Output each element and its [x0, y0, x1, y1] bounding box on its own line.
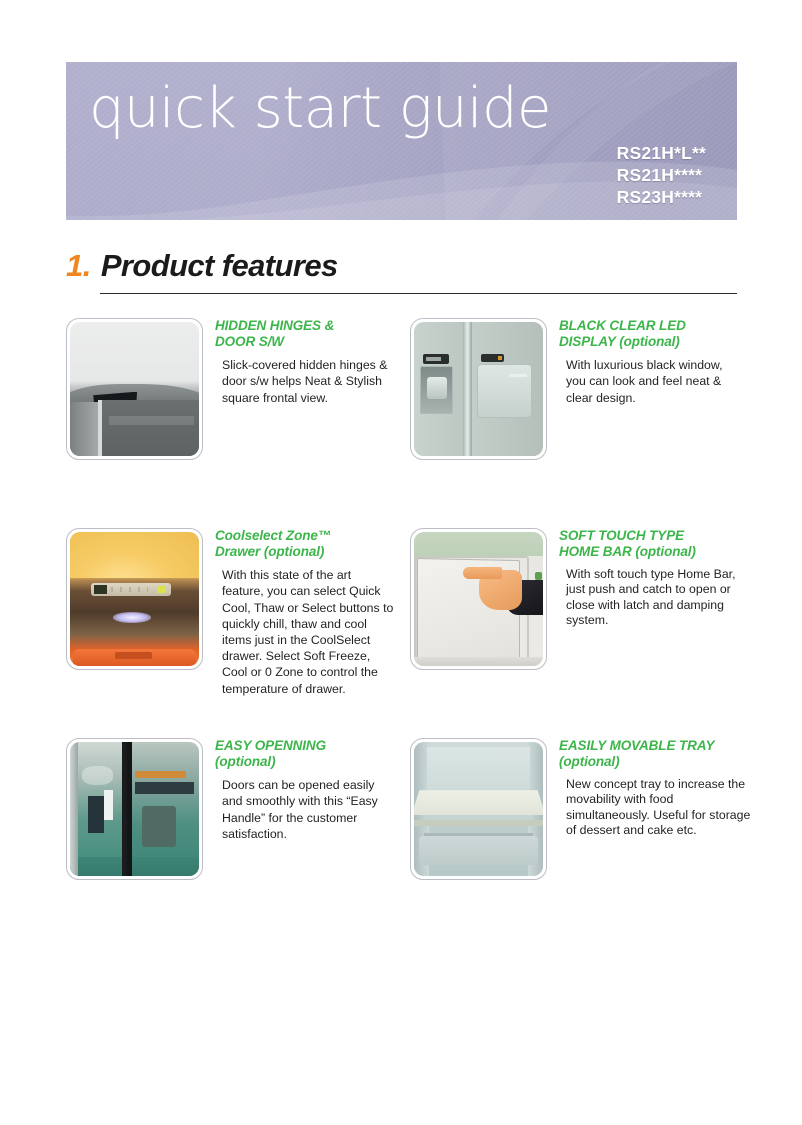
page-title: quick start guide [89, 71, 551, 147]
feature-row: Coolselect Zone™ Drawer (optional) With … [66, 528, 756, 738]
section-number: 1. [66, 248, 91, 284]
feature-title: HIDDEN HINGES & DOOR S/W [215, 318, 395, 350]
feature-body-text: Slick-covered hidden hinges & door s/w h… [215, 357, 395, 406]
feature-caption: Coolselect Zone™ Drawer (optional) With … [203, 528, 395, 697]
model-numbers-list: RS21H*L** RS21H**** RS23H**** [617, 142, 706, 208]
hidden-hinges-photo [66, 318, 203, 460]
section-title: Product features [101, 248, 338, 284]
feature-title-line: BLACK CLEAR LED [559, 318, 739, 334]
model-number: RS23H**** [617, 186, 706, 208]
feature-title: SOFT TOUCH TYPE HOME BAR (optional) [559, 528, 739, 560]
product-features-grid: HIDDEN HINGES & DOOR S/W Slick-covered h… [66, 318, 756, 938]
page-header-banner: quick start guide RS21H*L** RS21H**** RS… [66, 62, 737, 220]
feature-soft-touch-home-bar: SOFT TOUCH TYPE HOME BAR (optional) With… [410, 528, 739, 670]
feature-row: EASY OPENNING (optional) Doors can be op… [66, 738, 756, 938]
feature-body-text: With soft touch type Home Bar, just push… [559, 567, 739, 628]
feature-easy-openning: EASY OPENNING (optional) Doors can be op… [66, 738, 395, 880]
feature-caption: SOFT TOUCH TYPE HOME BAR (optional) With… [547, 528, 739, 629]
feature-body-text: With luxurious black window, you can loo… [559, 357, 739, 406]
section-heading: 1. Product features [66, 248, 737, 294]
feature-body-text: New concept tray to increase the movabil… [559, 777, 752, 838]
feature-title-line: Coolselect Zone™ [215, 528, 395, 544]
feature-title-line: SOFT TOUCH TYPE [559, 528, 739, 544]
section-divider [100, 293, 737, 294]
black-clear-led-display-photo [410, 318, 547, 460]
feature-title-line: HOME BAR (optional) [559, 544, 739, 560]
feature-coolselect-zone-drawer: Coolselect Zone™ Drawer (optional) With … [66, 528, 395, 697]
easily-movable-tray-photo [410, 738, 547, 880]
feature-title-line: DOOR S/W [215, 334, 395, 350]
feature-title: EASILY MOVABLE TRAY (optional) [559, 738, 752, 770]
model-number: RS21H**** [617, 164, 706, 186]
feature-body-text: With this state of the art feature, you … [215, 567, 395, 697]
feature-title-line: (optional) [559, 754, 752, 770]
easy-openning-photo [66, 738, 203, 880]
feature-title: EASY OPENNING (optional) [215, 738, 395, 770]
feature-body-text: Doors can be opened easily and smoothly … [215, 777, 395, 842]
model-number: RS21H*L** [617, 142, 706, 164]
coolselect-zone-drawer-photo [66, 528, 203, 670]
feature-caption: EASILY MOVABLE TRAY (optional) New conce… [547, 738, 752, 839]
feature-title-line: (optional) [215, 754, 395, 770]
feature-caption: HIDDEN HINGES & DOOR S/W Slick-covered h… [203, 318, 395, 406]
feature-hidden-hinges: HIDDEN HINGES & DOOR S/W Slick-covered h… [66, 318, 395, 460]
feature-title-line: HIDDEN HINGES & [215, 318, 395, 334]
soft-touch-home-bar-photo [410, 528, 547, 670]
feature-title: Coolselect Zone™ Drawer (optional) [215, 528, 395, 560]
feature-row: HIDDEN HINGES & DOOR S/W Slick-covered h… [66, 318, 756, 528]
feature-caption: EASY OPENNING (optional) Doors can be op… [203, 738, 395, 842]
feature-title-line: EASY OPENNING [215, 738, 395, 754]
feature-easily-movable-tray: EASILY MOVABLE TRAY (optional) New conce… [410, 738, 752, 880]
feature-black-clear-led-display: BLACK CLEAR LED DISPLAY (optional) With … [410, 318, 739, 460]
feature-title-line: Drawer (optional) [215, 544, 395, 560]
feature-caption: BLACK CLEAR LED DISPLAY (optional) With … [547, 318, 739, 406]
feature-title-line: EASILY MOVABLE TRAY [559, 738, 752, 754]
feature-title: BLACK CLEAR LED DISPLAY (optional) [559, 318, 739, 350]
feature-title-line: DISPLAY (optional) [559, 334, 739, 350]
